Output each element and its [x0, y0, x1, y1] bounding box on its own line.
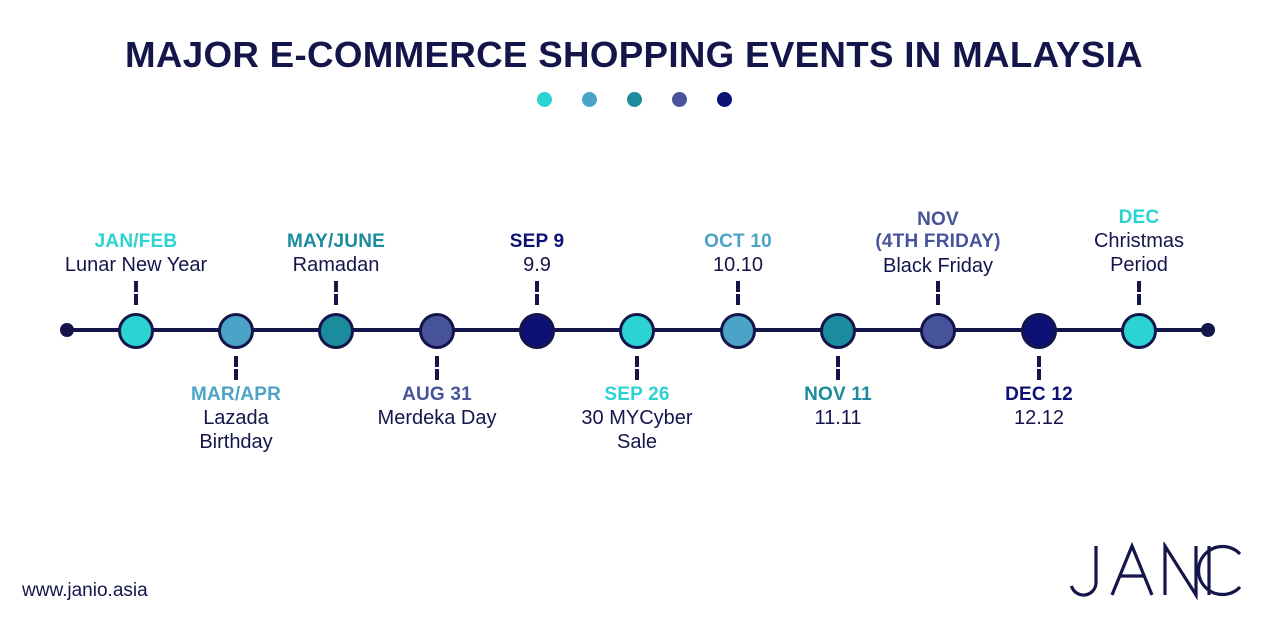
- label-date-christmas-period: DEC: [1024, 207, 1254, 229]
- timeline-axis-cap-right: [1201, 323, 1215, 337]
- timeline-label-ramadan: MAY/JUNERamadan: [221, 231, 451, 278]
- timeline-label-merdeka-day: AUG 31Merdeka Day: [322, 384, 552, 431]
- connector-lunar-new-year: [134, 281, 138, 305]
- timeline-node-ramadan[interactable]: [318, 313, 354, 349]
- timeline-label-lunar-new-year: JAN/FEBLunar New Year: [21, 231, 251, 278]
- label-date-lunar-new-year: JAN/FEB: [21, 231, 251, 253]
- label-name-ramadan: Ramadan: [221, 254, 451, 278]
- timeline-node-nine-nine[interactable]: [519, 313, 555, 349]
- janio-logo: [1070, 542, 1242, 605]
- label-date-eleven-eleven: NOV 11: [723, 384, 953, 406]
- label-name-lunar-new-year: Lunar New Year: [21, 254, 251, 278]
- label-name-merdeka-day: Merdeka Day: [322, 407, 552, 431]
- connector-twelve-twelve: [1037, 356, 1041, 380]
- connector-nine-nine: [535, 281, 539, 305]
- label-name-lazada-birthday: Lazada Birthday: [121, 407, 351, 454]
- timeline-label-twelve-twelve: DEC 1212.12: [924, 384, 1154, 431]
- timeline-label-ten-ten: OCT 1010.10: [623, 231, 853, 278]
- timeline-node-twelve-twelve[interactable]: [1021, 313, 1057, 349]
- label-date-black-friday: NOV (4TH FRIDAY): [823, 209, 1053, 254]
- timeline-label-black-friday: NOV (4TH FRIDAY)Black Friday: [823, 209, 1053, 278]
- timeline-node-lunar-new-year[interactable]: [118, 313, 154, 349]
- label-name-mycyber-sale: 30 MYCyber Sale: [522, 407, 752, 454]
- connector-black-friday: [936, 281, 940, 305]
- timeline-node-christmas-period[interactable]: [1121, 313, 1157, 349]
- timeline-node-eleven-eleven[interactable]: [820, 313, 856, 349]
- label-name-eleven-eleven: 11.11: [723, 407, 953, 431]
- connector-merdeka-day: [435, 356, 439, 380]
- timeline-node-mycyber-sale[interactable]: [619, 313, 655, 349]
- timeline-node-lazada-birthday[interactable]: [218, 313, 254, 349]
- connector-christmas-period: [1137, 281, 1141, 305]
- timeline: JAN/FEBLunar New YearMAR/APRLazada Birth…: [0, 0, 1268, 629]
- timeline-node-merdeka-day[interactable]: [419, 313, 455, 349]
- label-date-ten-ten: OCT 10: [623, 231, 853, 253]
- label-date-merdeka-day: AUG 31: [322, 384, 552, 406]
- connector-ramadan: [334, 281, 338, 305]
- timeline-node-black-friday[interactable]: [920, 313, 956, 349]
- label-name-christmas-period: Christmas Period: [1024, 230, 1254, 277]
- label-name-black-friday: Black Friday: [823, 255, 1053, 279]
- timeline-axis-cap-left: [60, 323, 74, 337]
- label-date-twelve-twelve: DEC 12: [924, 384, 1154, 406]
- label-date-ramadan: MAY/JUNE: [221, 231, 451, 253]
- label-date-nine-nine: SEP 9: [422, 231, 652, 253]
- timeline-label-mycyber-sale: SEP 2630 MYCyber Sale: [522, 384, 752, 455]
- connector-eleven-eleven: [836, 356, 840, 380]
- site-url: www.janio.asia: [22, 580, 148, 602]
- label-name-ten-ten: 10.10: [623, 254, 853, 278]
- timeline-node-ten-ten[interactable]: [720, 313, 756, 349]
- label-date-mycyber-sale: SEP 26: [522, 384, 752, 406]
- connector-mycyber-sale: [635, 356, 639, 380]
- timeline-label-lazada-birthday: MAR/APRLazada Birthday: [121, 384, 351, 455]
- connector-ten-ten: [736, 281, 740, 305]
- label-name-twelve-twelve: 12.12: [924, 407, 1154, 431]
- timeline-label-nine-nine: SEP 99.9: [422, 231, 652, 278]
- timeline-label-eleven-eleven: NOV 1111.11: [723, 384, 953, 431]
- label-date-lazada-birthday: MAR/APR: [121, 384, 351, 406]
- connector-lazada-birthday: [234, 356, 238, 380]
- label-name-nine-nine: 9.9: [422, 254, 652, 278]
- timeline-label-christmas-period: DECChristmas Period: [1024, 207, 1254, 278]
